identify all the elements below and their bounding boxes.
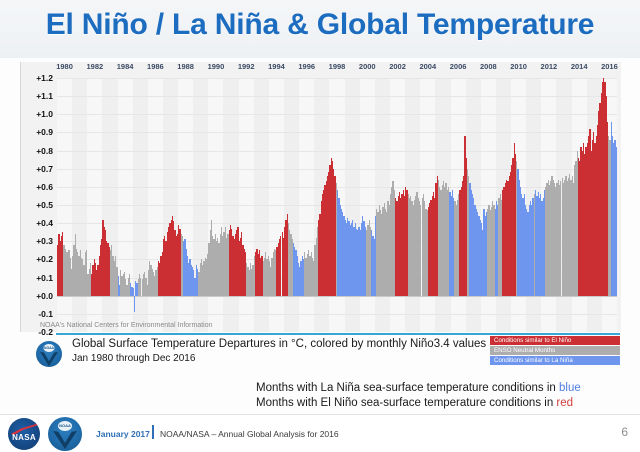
noaa-credit: NOAA's National Centers for Environmenta… [40, 322, 213, 329]
noaa-logo-text: NOAA [44, 344, 54, 352]
y-axis-tick: +0.8 [36, 146, 53, 156]
x-axis-tick: 1990 [208, 62, 225, 71]
annotation-line-lanina: Months with La Niña sea-surface temperat… [256, 381, 640, 396]
x-axis-tick: 1986 [147, 62, 164, 71]
x-axis-tick: 2008 [480, 62, 497, 71]
x-axis-tick: 2006 [450, 62, 467, 71]
y-axis-tick: +0.3 [36, 236, 53, 246]
chart-bar [616, 147, 617, 296]
y-axis-tick: +0.4 [36, 218, 53, 228]
x-axis-tick: 2000 [359, 62, 376, 71]
chart-legend-item: Conditions similar to La Niña [490, 356, 620, 365]
x-axis-tick: 1994 [268, 62, 285, 71]
y-axis-tick: +0.6 [36, 182, 53, 192]
x-axis-tick: 1992 [238, 62, 255, 71]
chart-container: 1980198219841986198819901992199419961998… [20, 62, 621, 332]
y-axis-tick: +0.9 [36, 127, 53, 137]
footer-separator [152, 425, 154, 439]
chart-legend: Conditions similar to El NiñoENSO Neutra… [490, 336, 620, 366]
x-axis-tick: 1980 [56, 62, 73, 71]
noaa-logo-icon: NOAA [36, 341, 62, 367]
y-axis-tick: -0.1 [38, 309, 53, 319]
footer: NASA NOAA January 2017 NOAA/NASA – Annua… [0, 415, 640, 452]
chart-bar [134, 296, 135, 312]
y-axis-tick: +1.0 [36, 109, 53, 119]
noaa-footer-logo-text: NOAA [59, 421, 71, 431]
x-axis-tick: 2010 [510, 62, 527, 71]
page-title: El Niño / La Niña & Global Temperature [0, 8, 640, 42]
footer-text: NOAA/NASA – Annual Global Analysis for 2… [160, 429, 339, 439]
chart-x-axis: 1980198219841986198819901992199419961998… [57, 62, 617, 78]
x-axis-tick: 1984 [117, 62, 134, 71]
noaa-logo-footer-icon: NOAA [48, 417, 82, 451]
x-axis-tick: 1982 [86, 62, 103, 71]
annotation-keyword-blue: blue [559, 382, 581, 394]
x-axis-tick: 1988 [177, 62, 194, 71]
x-axis-tick: 2016 [601, 62, 618, 71]
chart-legend-item: ENSO Neutral Months [490, 346, 620, 355]
nasa-logo-icon: NASA [8, 418, 40, 450]
x-axis-tick: 2012 [541, 62, 558, 71]
chart-caption: NOAA Global Surface Temperature Departur… [24, 337, 494, 371]
y-axis-tick: +1.2 [36, 73, 53, 83]
annotation-line-elnino: Months with El Niño sea-surface temperat… [256, 396, 640, 411]
chart-bar [133, 288, 134, 295]
y-axis-tick: +0.0 [36, 291, 53, 301]
x-axis-tick: 2014 [571, 62, 588, 71]
page-number: 6 [621, 425, 628, 439]
caption-line-2: Jan 1980 through Dec 2016 [72, 353, 195, 364]
y-axis-tick: +0.7 [36, 164, 53, 174]
x-axis-tick: 1998 [329, 62, 346, 71]
chart-y-axis: +1.2+1.1+1.0+0.9+0.8+0.7+0.6+0.5+0.4+0.3… [21, 78, 55, 332]
axis-rule [56, 333, 620, 335]
annotation-block: Months with La Niña sea-surface temperat… [256, 381, 640, 411]
y-axis-tick: +0.2 [36, 254, 53, 264]
y-axis-tick: +0.1 [36, 273, 53, 283]
caption-line-1: Global Surface Temperature Departures in… [72, 338, 486, 350]
x-axis-tick: 2004 [419, 62, 436, 71]
x-axis-tick: 1996 [298, 62, 315, 71]
annotation-keyword-red: red [556, 397, 573, 409]
annotation-elnino-text: Months with El Niño sea-surface temperat… [256, 397, 556, 409]
slide: El Niño / La Niña & Global Temperature 1… [0, 0, 640, 452]
annotation-lanina-text: Months with La Niña sea-surface temperat… [256, 382, 559, 394]
footer-date: January 2017 [96, 429, 150, 439]
chart-legend-item: Conditions similar to El Niño [490, 336, 620, 345]
chart-plot-area [57, 78, 617, 332]
nasa-logo-text: NASA [8, 433, 40, 442]
y-axis-tick: +0.5 [36, 200, 53, 210]
x-axis-tick: 2002 [389, 62, 406, 71]
chart-bars [57, 78, 617, 332]
y-axis-tick: +1.1 [36, 91, 53, 101]
